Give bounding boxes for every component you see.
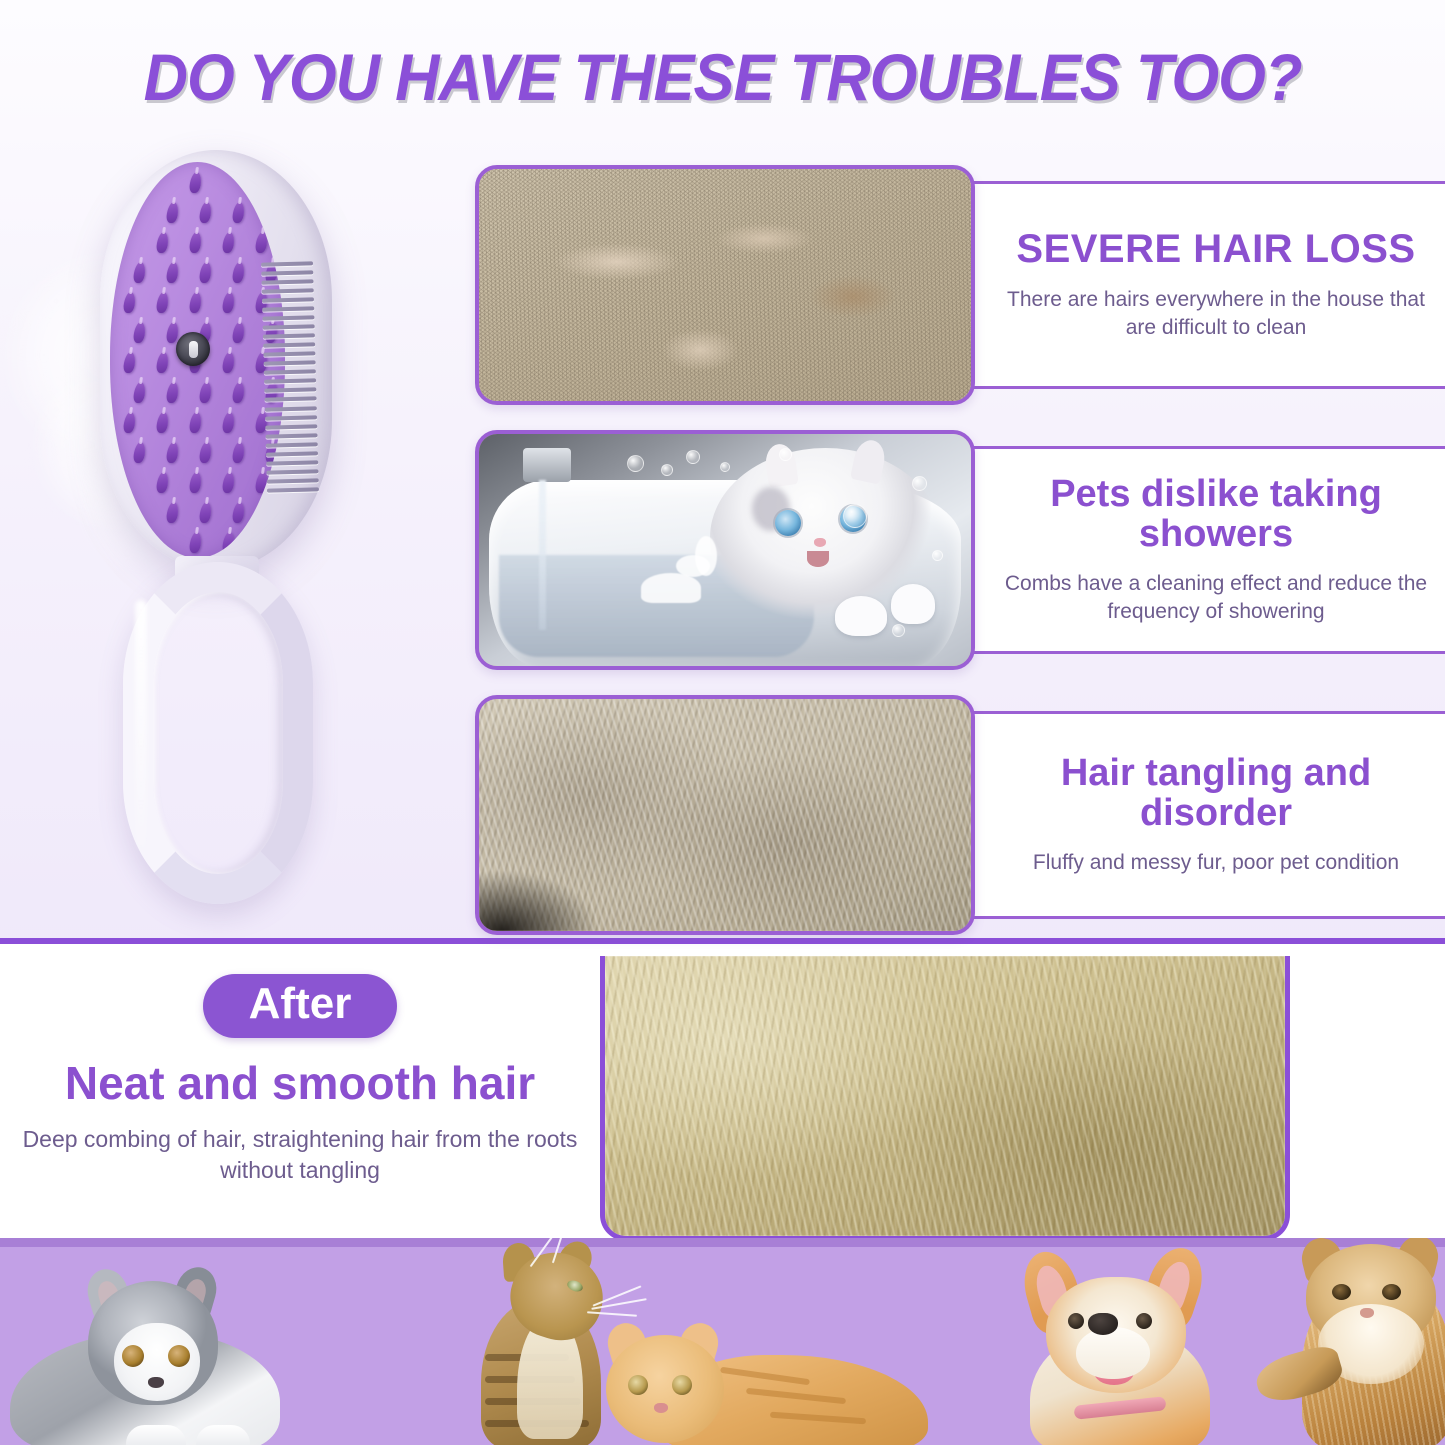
bathroom-scene [479,434,971,666]
problem-card-list: SEVERE HAIR LOSS There are hairs everywh… [475,165,1445,960]
bristle [133,442,147,463]
after-section: After Neat and smooth hair Deep combing … [0,944,1445,1238]
problem-card: SEVERE HAIR LOSS There are hairs everywh… [475,165,1445,415]
grille-slot [265,433,317,438]
bristle [199,262,213,283]
cat-eye [628,1375,648,1395]
bristle [156,292,170,313]
problems-section: SEVERE HAIR LOSS There are hairs everywh… [0,120,1445,938]
bristle [123,412,137,433]
cat-paw [835,596,887,636]
water-splash [641,573,701,603]
bristle [222,532,236,553]
cat-nose [814,538,826,547]
bristle [199,202,213,223]
bristle [156,352,170,373]
brush-handle-loop [123,562,313,904]
page-title-text: DO YOU HAVE THESE TROUBLES TOO? [144,39,1302,115]
grille-slot [263,334,315,339]
white-cat [710,448,941,643]
carpet-with-pet-hair-photo [475,165,975,405]
dog-eye [1136,1313,1152,1329]
messy-fur-texture [479,699,971,931]
grille-slot [261,270,313,275]
grille-slot [265,415,317,420]
cat-paw [196,1425,250,1445]
cat-nose [1360,1308,1374,1318]
grille-slot [266,442,318,447]
problem-card-desc: Fluffy and messy fur, poor pet condition [1033,849,1399,877]
cat-eye [122,1345,144,1367]
grille-slot [261,261,313,266]
bristle [222,472,236,493]
bristle [232,262,246,283]
vent-grille [261,261,319,492]
steam-nozzle-icon [176,332,210,366]
problem-card: Pets dislike taking showers Combs have a… [475,430,1445,680]
bristle [232,382,246,403]
dog-snout [1076,1327,1150,1379]
bristle [133,262,147,283]
handle-highlight [135,600,147,850]
grille-slot [262,297,314,302]
problem-card-title: Pets dislike taking showers [1003,474,1429,555]
grille-slot [266,460,318,465]
grille-slot [265,424,317,429]
water-bubble [843,504,867,528]
water-bubble [720,462,730,472]
water-bubble [627,455,644,472]
problem-card-text: SEVERE HAIR LOSS There are hairs everywh… [969,181,1445,389]
bristle [166,202,180,223]
cat-mouth [807,551,829,567]
cat-in-bathtub-photo [475,430,975,670]
cat-ear [850,437,888,484]
after-desc: Deep combing of hair, straightening hair… [0,1124,600,1186]
grey-white-shorthair-cat [10,1261,300,1445]
after-heading: Neat and smooth hair [65,1056,535,1110]
problem-card-text: Pets dislike taking showers Combs have a… [969,446,1445,654]
longhair-ginger-cat [1262,1244,1445,1445]
grille-slot [263,343,315,348]
problem-card-text: Hair tangling and disorder Fluffy and me… [969,711,1445,919]
water-bubble [779,448,792,461]
carpet-texture [479,169,971,401]
pets-band [0,1238,1445,1445]
bristle [189,172,203,193]
bristle [189,292,203,313]
bristle [123,292,137,313]
bristle [166,382,180,403]
bristle [222,292,236,313]
orange-tabby-cat [600,1301,930,1445]
grille-slot [264,379,316,384]
bristle [232,322,246,343]
bristle [156,232,170,253]
faucet-icon [523,448,571,482]
grille-slot [265,406,317,411]
cat-eye [1382,1284,1401,1300]
bristle [255,232,269,253]
smooth-golden-fur-photo [600,956,1290,1241]
bristle [199,502,213,523]
corgi-dog [990,1251,1260,1445]
product-image [55,130,455,920]
cat-nose [654,1403,668,1413]
bristle [199,442,213,463]
grille-slot [266,469,318,474]
bristle [189,472,203,493]
bristle [166,262,180,283]
dog-eye [1068,1313,1084,1329]
bristle [222,412,236,433]
bristle [232,502,246,523]
cat-nose [148,1377,164,1388]
tangled-messy-fur-photo [475,695,975,935]
problem-card-desc: Combs have a cleaning effect and reduce … [1003,570,1429,626]
after-text-panel: After Neat and smooth hair Deep combing … [0,956,600,1224]
bristle [166,502,180,523]
bristle [222,352,236,373]
page-title: DO YOU HAVE THESE TROUBLES TOO? [0,38,1445,116]
grille-slot [264,370,316,375]
cat-paw [891,584,935,624]
problem-card-title: SEVERE HAIR LOSS [1016,228,1415,270]
golden-fur-texture [605,956,1285,1236]
grille-slot [267,478,319,483]
bristle [189,232,203,253]
dog-nose [1088,1313,1118,1335]
grille-slot [262,306,314,311]
grille-slot [263,352,315,357]
cat-eye [672,1375,692,1395]
cat-paw [126,1425,186,1445]
cat-eye [168,1345,190,1367]
bristle [123,352,137,373]
bristle [199,382,213,403]
cat-head [606,1335,724,1443]
grille-slot [264,361,316,366]
grille-slot [263,325,315,330]
water-bubble [661,464,673,476]
problem-card: Hair tangling and disorder Fluffy and me… [475,695,1445,945]
grille-slot [267,487,319,492]
bristle [232,442,246,463]
after-badge: After [203,974,398,1038]
cat-eye [1332,1284,1351,1300]
grille-slot [265,397,317,402]
grille-slot [262,316,314,321]
grille-slot [261,279,313,284]
water-bubble [912,476,927,491]
bristle [189,532,203,553]
problem-card-title: Hair tangling and disorder [1003,753,1429,834]
bristle [156,412,170,433]
brush-head [100,150,332,570]
grille-slot [264,388,316,393]
bristle [133,322,147,343]
bristle [156,472,170,493]
bristle [133,382,147,403]
bristle [166,442,180,463]
water-bubble [932,550,943,561]
grille-slot [262,288,314,293]
problem-card-desc: There are hairs everywhere in the house … [1003,286,1429,342]
bristle [232,202,246,223]
bristle [189,412,203,433]
grille-slot [266,451,318,456]
water-bubble [686,450,700,464]
bristle [222,232,236,253]
cat-eye [775,510,801,536]
